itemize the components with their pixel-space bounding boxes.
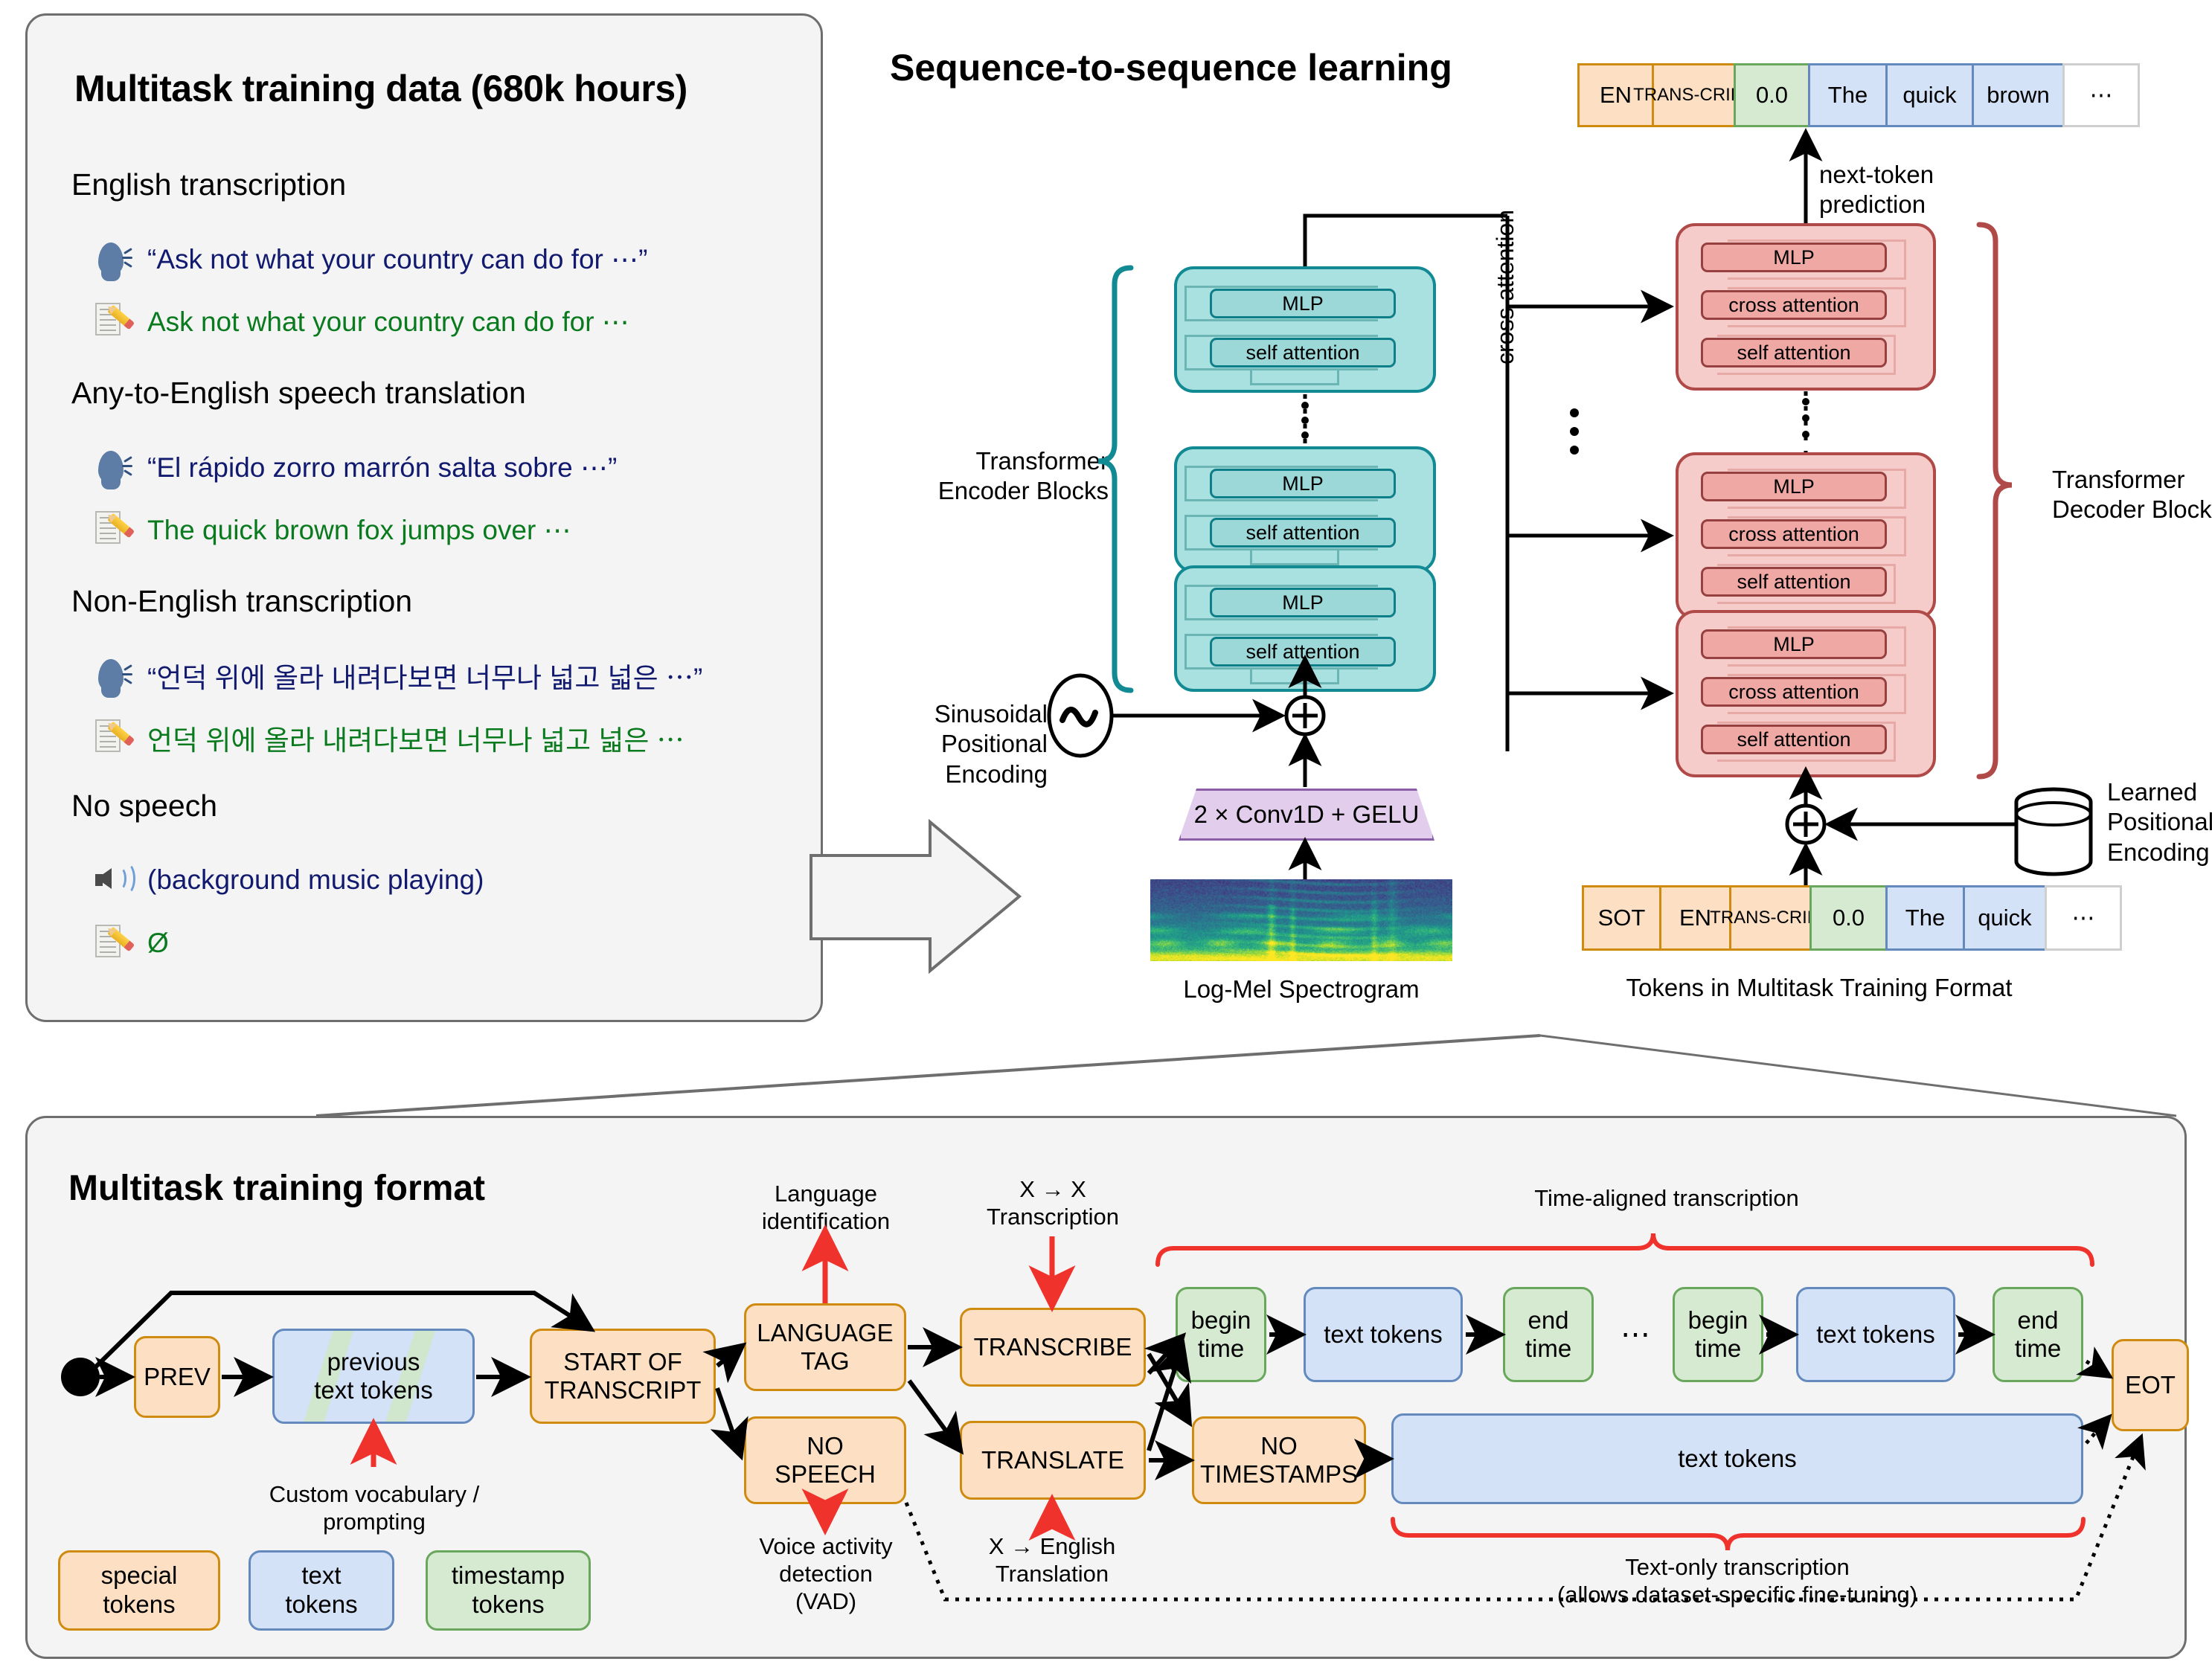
log-mel-spectrogram-image (1150, 879, 1452, 961)
encoder-block-top: MLP self attention (1174, 266, 1436, 393)
token-cell-quick: quick (1885, 63, 1972, 127)
node-text-tokens-long[interactable]: text tokens (1391, 1413, 2083, 1504)
token-cell-the: The (1885, 885, 1963, 951)
node-eot[interactable]: EOT (2112, 1339, 2189, 1431)
example-written-text: Ø (147, 928, 169, 959)
example-row-speech-3: (background music playing) (94, 859, 484, 901)
example-written-text: The quick brown fox jumps over ⋯ (147, 514, 571, 546)
example-row-speech-0: “Ask not what your country can do for ⋯” (94, 238, 647, 280)
decoder-cross-attention-pill: cross attention (1701, 519, 1887, 549)
legend-text-tokens: text tokens (249, 1550, 394, 1631)
language-tag-line2: TAG (757, 1347, 893, 1375)
node-end-time-1[interactable]: end time (1503, 1287, 1594, 1382)
example-written-text: 언덕 위에 올라 내려다보면 너무나 넓고 넓은 ⋯ (147, 718, 685, 758)
annotation-x-to-x-transcription: X → X Transcription (945, 1175, 1161, 1230)
token-cell-⋯: ⋯ (2062, 63, 2140, 127)
node-begin-time-2[interactable]: begin time (1673, 1287, 1763, 1382)
end-time-line2: time (1525, 1335, 1571, 1363)
training-data-panel-title: Multitask training data (680k hours) (74, 67, 687, 110)
token-cell-trans-cribe: TRANS-CRIBE (1652, 63, 1734, 127)
encoder-mlp-pill: MLP (1210, 289, 1396, 318)
tokens-caption: Tokens in Multitask Training Format (1495, 973, 2143, 1003)
sinusoidal-positional-encoding-label: Sinusoidal Positional Encoding (884, 699, 1048, 789)
example-speech-text: “Ask not what your country can do for ⋯” (147, 243, 647, 275)
example-row-written-1: The quick brown fox jumps over ⋯ (94, 509, 571, 550)
token-cell-the: The (1808, 63, 1885, 127)
no-timestamps-line2: TIMESTAMPS (1200, 1460, 1358, 1489)
annotation-language-identification: Language identification (722, 1180, 930, 1235)
decoder-block-bottom: MLP cross attention self attention (1676, 610, 1936, 777)
encoder-blocks-label: Transformer Encoder Blocks (878, 446, 1109, 507)
end-time-line1: end (2015, 1306, 2061, 1335)
decoder-self-attention-pill: self attention (1701, 338, 1887, 367)
token-cell-trans-cribe: TRANS-CRIBE (1729, 885, 1809, 951)
encoder-mlp-pill: MLP (1210, 469, 1396, 498)
token-cell-⋯: ⋯ (2045, 885, 2122, 951)
section-heading-no-speech: No speech (71, 789, 217, 823)
node-translate[interactable]: TRANSLATE (960, 1421, 1146, 1500)
example-row-written-3: Ø (94, 922, 169, 964)
encoder-self-attention-pill: self attention (1210, 338, 1396, 367)
previous-text-tokens-line2: text tokens (314, 1376, 433, 1404)
example-row-speech-1: “El rápido zorro marrón salta sobre ⋯” (94, 446, 617, 488)
decoder-cross-attention-pill: cross attention (1701, 290, 1887, 320)
annotation-time-aligned-transcription: Time-aligned transcription (1362, 1184, 1972, 1212)
start-of-transcript-line2: TRANSCRIPT (545, 1376, 702, 1404)
spectrogram-caption: Log-Mel Spectrogram (1150, 975, 1452, 1004)
example-speech-text: “언덕 위에 올라 내려다보면 너무나 넓고 넓은 ⋯” (147, 655, 702, 696)
conv1d-gelu-block: 2 × Conv1D + GELU (1179, 789, 1434, 841)
annotation-x-to-english-translation: X → English Translation (940, 1532, 1164, 1587)
token-cell-brown: brown (1972, 63, 2062, 127)
token-cell-sot: SOT (1582, 885, 1659, 951)
node-begin-time-1[interactable]: begin time (1176, 1287, 1266, 1382)
node-no-speech[interactable]: NO SPEECH (744, 1416, 906, 1504)
example-row-written-0: Ask not what your country can do for ⋯ (94, 301, 629, 342)
end-time-line2: time (2015, 1335, 2061, 1363)
next-token-prediction-label: next-token prediction (1819, 160, 2013, 220)
annotation-text-only-transcription: Text-only transcription (allows dataset-… (1362, 1553, 2113, 1608)
decoder-self-attention-pill: self attention (1701, 567, 1887, 597)
decoder-block-top: MLP cross attention self attention (1676, 223, 1936, 391)
end-time-line1: end (1525, 1306, 1571, 1335)
begin-time-line1: begin (1191, 1306, 1251, 1335)
legend-timestamp-tokens: timestamp tokens (426, 1550, 591, 1631)
decoder-blocks-label: Transformer Decoder Blocks (2052, 465, 2212, 525)
encoder-block-bottom: MLP self attention (1174, 565, 1436, 692)
learned-positional-encoding-label: Learned Positional Encoding (2107, 777, 2212, 867)
example-row-speech-2: “언덕 위에 올라 내려다보면 너무나 넓고 넓은 ⋯” (94, 655, 702, 696)
example-written-text: Ask not what your country can do for ⋯ (147, 306, 629, 338)
panel-connector-arrow (811, 822, 1019, 971)
speaking-head-icon (94, 655, 135, 696)
example-speech-text: “El rápido zorro marrón salta sobre ⋯” (147, 452, 617, 484)
decoder-cross-attention-pill: cross attention (1701, 677, 1887, 707)
example-speech-text: (background music playing) (147, 864, 484, 896)
decoder-mlp-pill: MLP (1701, 629, 1887, 659)
node-end-time-2[interactable]: end time (1993, 1287, 2083, 1382)
node-no-timestamps[interactable]: NO TIMESTAMPS (1192, 1416, 1366, 1504)
encoder-block-middle: MLP self attention (1174, 446, 1436, 573)
decoder-block-middle: MLP cross attention self attention (1676, 452, 1936, 620)
output-token-strip: ENTRANS-CRIBE0.0Thequickbrown⋯ (1577, 63, 2140, 127)
decoder-mlp-pill: MLP (1701, 472, 1887, 501)
decoder-self-attention-pill: self attention (1701, 725, 1887, 754)
memo-pencil-icon (94, 301, 135, 342)
speaking-head-icon (94, 238, 135, 280)
node-language-tag[interactable]: LANGUAGE TAG (744, 1303, 906, 1391)
section-heading-any-to-english-speech-translation: Any-to-English speech translation (71, 376, 526, 411)
seq2seq-title: Sequence-to-sequence learning (890, 46, 1452, 89)
time-aligned-ellipsis: ⋯ (1598, 1317, 1673, 1353)
begin-time-line2: time (1688, 1335, 1748, 1363)
cross-attention-label: cross attention (1492, 210, 1519, 365)
token-cell-0.0: 0.0 (1809, 885, 1885, 951)
node-prev[interactable]: PREV (134, 1336, 220, 1418)
begin-time-line1: begin (1688, 1306, 1748, 1335)
node-previous-text-tokens[interactable]: previous text tokens (272, 1329, 475, 1424)
speaker-music-icon (94, 859, 135, 901)
multitask-format-title: Multitask training format (68, 1168, 485, 1209)
memo-pencil-icon (94, 922, 135, 964)
no-speech-line2: SPEECH (775, 1460, 876, 1489)
memo-pencil-icon (94, 509, 135, 550)
node-text-tokens-2[interactable]: text tokens (1796, 1287, 1955, 1382)
node-text-tokens-1[interactable]: text tokens (1304, 1287, 1463, 1382)
token-cell-quick: quick (1963, 885, 2045, 951)
example-row-written-2: 언덕 위에 올라 내려다보면 너무나 넓고 넓은 ⋯ (94, 717, 685, 759)
section-heading-english-transcription: English transcription (71, 167, 346, 202)
node-start-of-transcript[interactable]: START OF TRANSCRIPT (530, 1329, 716, 1424)
speaking-head-icon (94, 446, 135, 488)
token-cell-0.0: 0.0 (1734, 63, 1808, 127)
section-heading-non-english-transcription: Non-English transcription (71, 584, 412, 619)
input-token-strip: SOTENTRANS-CRIBE0.0Thequick⋯ (1582, 885, 2122, 951)
annotation-custom-vocabulary: Custom vocabulary / prompting (251, 1480, 497, 1535)
start-of-transcript-line1: START OF (545, 1348, 702, 1376)
decoder-mlp-pill: MLP (1701, 243, 1887, 272)
encoder-mlp-pill: MLP (1210, 588, 1396, 617)
previous-text-tokens-line1: previous (314, 1348, 433, 1376)
node-transcribe[interactable]: TRANSCRIBE (960, 1308, 1146, 1387)
language-tag-line1: LANGUAGE (757, 1319, 893, 1347)
no-speech-line1: NO (775, 1432, 876, 1460)
memo-pencil-icon (94, 717, 135, 759)
encoder-self-attention-pill: self attention (1210, 518, 1396, 548)
annotation-voice-activity-detection: Voice activity detection (VAD) (722, 1532, 930, 1616)
legend-special-tokens: special tokens (58, 1550, 220, 1631)
encoder-self-attention-pill: self attention (1210, 637, 1396, 667)
begin-time-line2: time (1191, 1335, 1251, 1363)
no-timestamps-line1: NO (1200, 1432, 1358, 1460)
